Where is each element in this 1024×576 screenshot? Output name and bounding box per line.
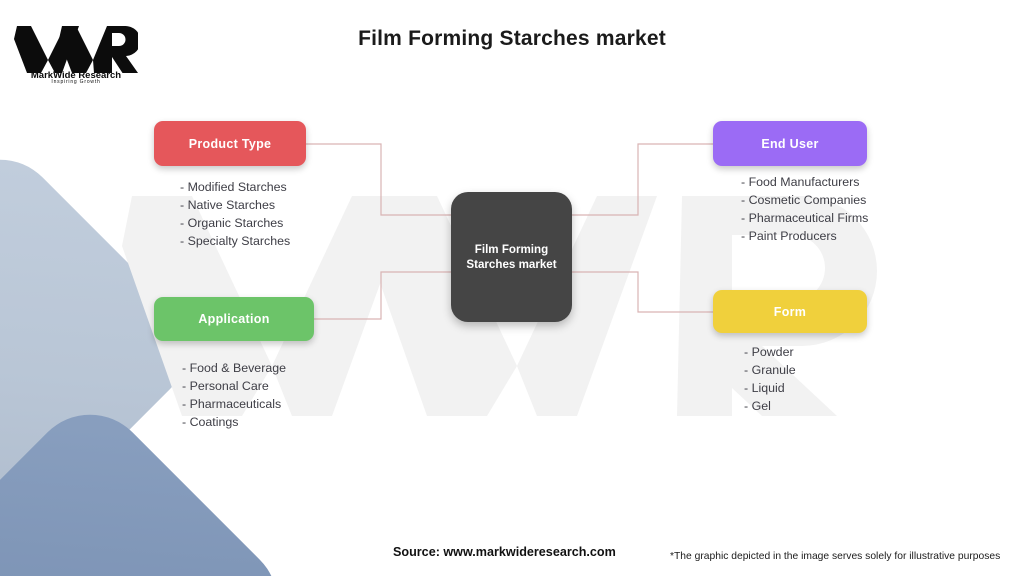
disclaimer-note: *The graphic depicted in the image serve… <box>670 551 1000 562</box>
list-item: - Powder <box>744 343 796 361</box>
branch-items-end-user: - Food Manufacturers - Cosmetic Companie… <box>741 173 868 245</box>
list-item: - Specialty Starches <box>180 232 290 250</box>
branch-label-product-type: Product Type <box>189 137 272 151</box>
branch-label-end-user: End User <box>761 137 818 151</box>
center-node: Film Forming Starches market <box>451 192 572 322</box>
branch-box-product-type[interactable]: Product Type <box>154 121 306 166</box>
list-item: - Personal Care <box>182 377 286 395</box>
logo-tagline: Inspiring Growth <box>51 79 100 84</box>
branch-box-end-user[interactable]: End User <box>713 121 867 166</box>
branch-label-application: Application <box>198 312 269 326</box>
list-item: - Cosmetic Companies <box>741 191 868 209</box>
list-item: - Gel <box>744 397 796 415</box>
infographic-canvas: MarkWide Research Inspiring Growth Film … <box>0 0 1024 576</box>
list-item: - Native Starches <box>180 196 290 214</box>
list-item: - Food Manufacturers <box>741 173 868 191</box>
center-node-line1: Film Forming <box>475 243 548 256</box>
source-note: Source: www.markwideresearch.com <box>393 545 616 559</box>
list-item: - Coatings <box>182 413 286 431</box>
list-item: - Modified Starches <box>180 178 290 196</box>
list-item: - Granule <box>744 361 796 379</box>
list-item: - Liquid <box>744 379 796 397</box>
center-node-line2: Starches market <box>466 258 556 271</box>
branch-items-application: - Food & Beverage - Personal Care - Phar… <box>182 359 286 431</box>
branch-label-form: Form <box>774 305 806 319</box>
list-item: - Pharmaceutical Firms <box>741 209 868 227</box>
list-item: - Food & Beverage <box>182 359 286 377</box>
list-item: - Organic Starches <box>180 214 290 232</box>
list-item: - Pharmaceuticals <box>182 395 286 413</box>
branch-box-application[interactable]: Application <box>154 297 314 341</box>
branch-items-form: - Powder - Granule - Liquid - Gel <box>744 343 796 415</box>
branch-items-product-type: - Modified Starches - Native Starches - … <box>180 178 290 250</box>
branch-box-form[interactable]: Form <box>713 290 867 333</box>
page-title: Film Forming Starches market <box>0 27 1024 51</box>
list-item: - Paint Producers <box>741 227 868 245</box>
